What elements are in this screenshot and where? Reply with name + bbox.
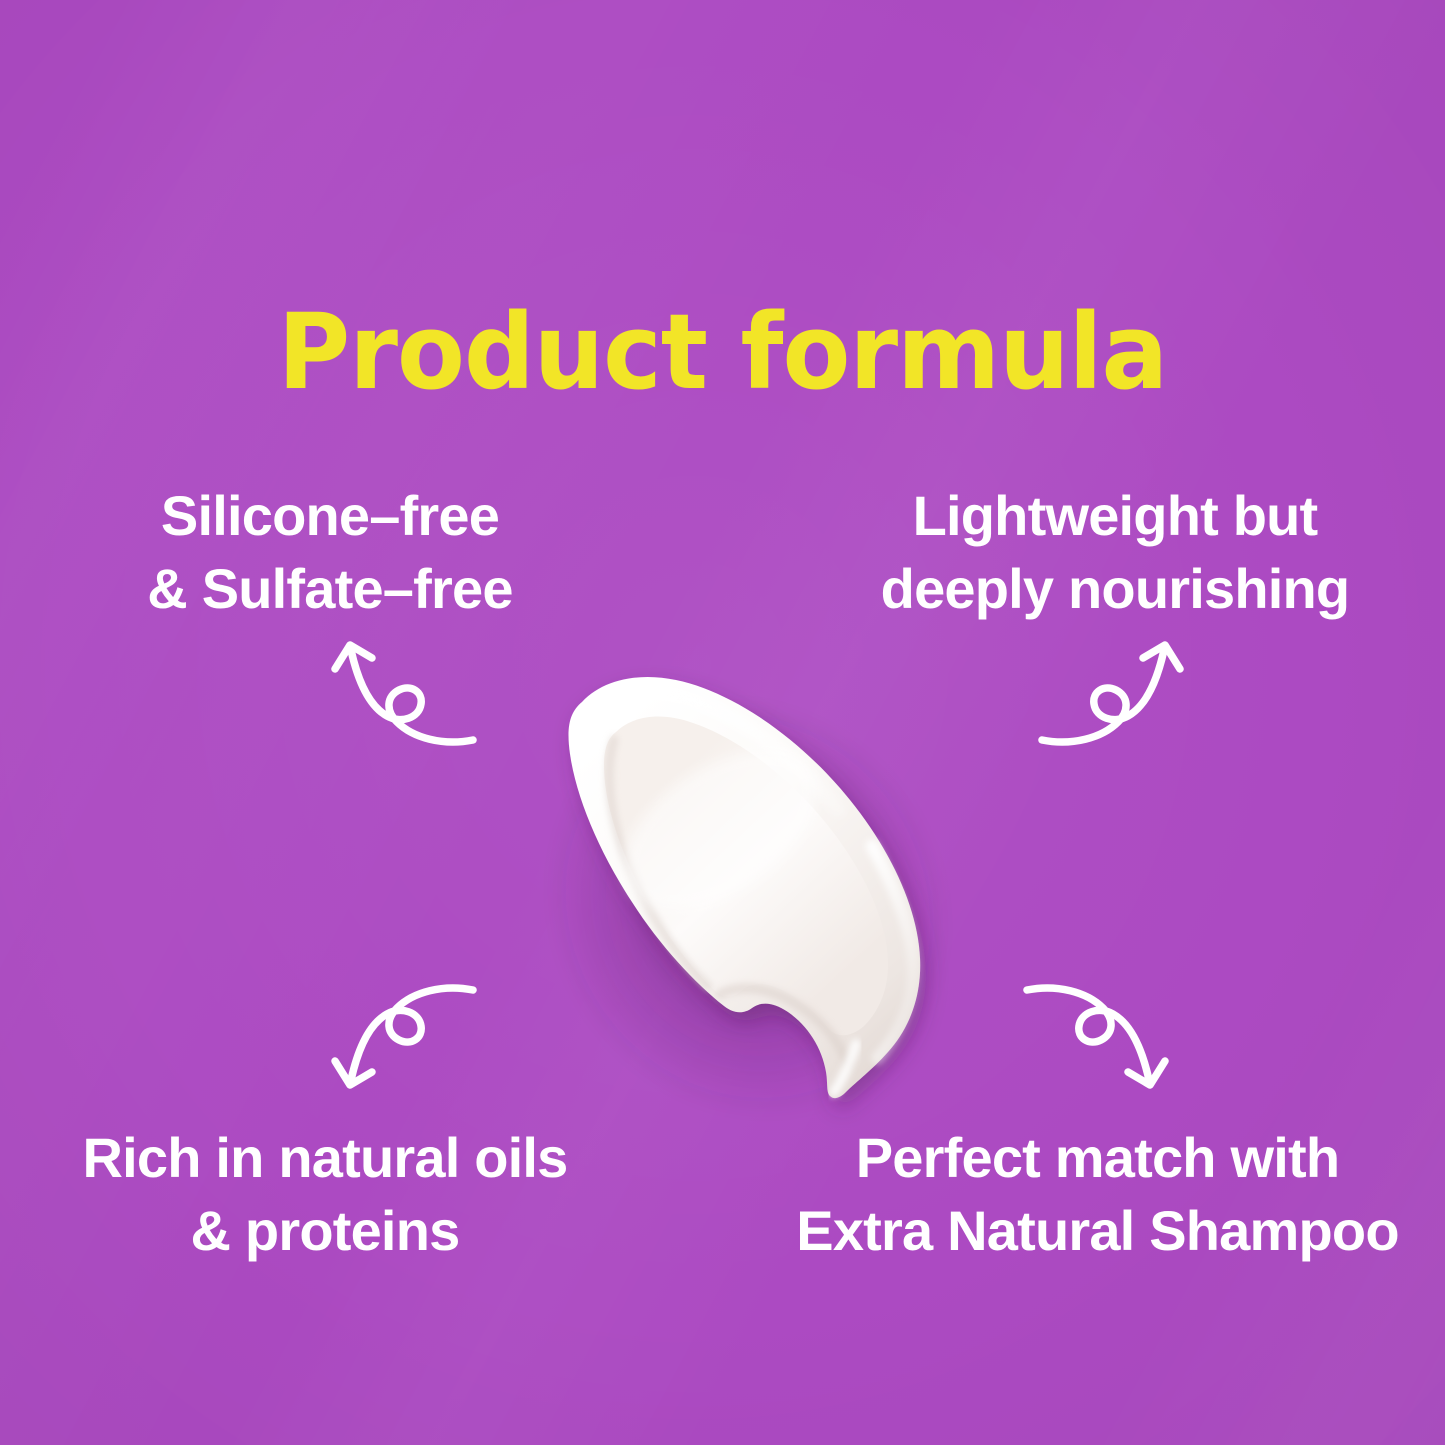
infographic-canvas: Product formula Silicone–free & Sulfate–… bbox=[0, 0, 1445, 1445]
cream-dollop-image bbox=[520, 640, 960, 1140]
feature-label-perfect-match: Perfect match with Extra Natural Shampoo bbox=[760, 1122, 1435, 1268]
feature-label-lightweight: Lightweight but deeply nourishing bbox=[800, 480, 1430, 626]
feature-label-natural-oils: Rich in natural oils & proteins bbox=[15, 1122, 635, 1268]
page-title: Product formula bbox=[36, 300, 1409, 404]
feature-label-silicone-free: Silicone–free & Sulfate–free bbox=[20, 480, 640, 626]
